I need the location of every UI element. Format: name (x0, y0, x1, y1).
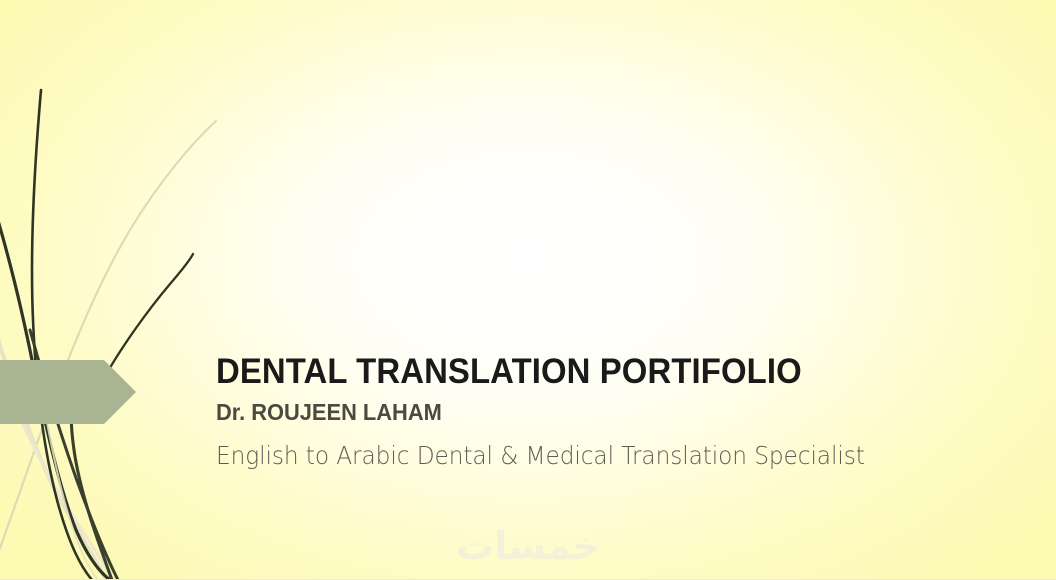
reed-dark-tall (32, 90, 92, 580)
arrow-shape (0, 360, 136, 424)
grass-reed-decoration (0, 0, 300, 580)
title-text-block: DENTAL TRANSLATION PORTIFOLIO Dr. ROUJEE… (216, 350, 1016, 472)
watermark: خمسات (0, 524, 1056, 568)
presenter-name: Dr. ROUJEEN LAHAM (216, 397, 976, 427)
reed-light-arc (0, 121, 216, 575)
green-arrow-banner (0, 360, 136, 424)
presentation-slide: DENTAL TRANSLATION PORTIFOLIO Dr. ROUJEE… (0, 0, 1056, 580)
tagline: English to Arabic Dental & Medical Trans… (216, 440, 960, 472)
page-title: DENTAL TRANSLATION PORTIFOLIO (216, 350, 968, 394)
